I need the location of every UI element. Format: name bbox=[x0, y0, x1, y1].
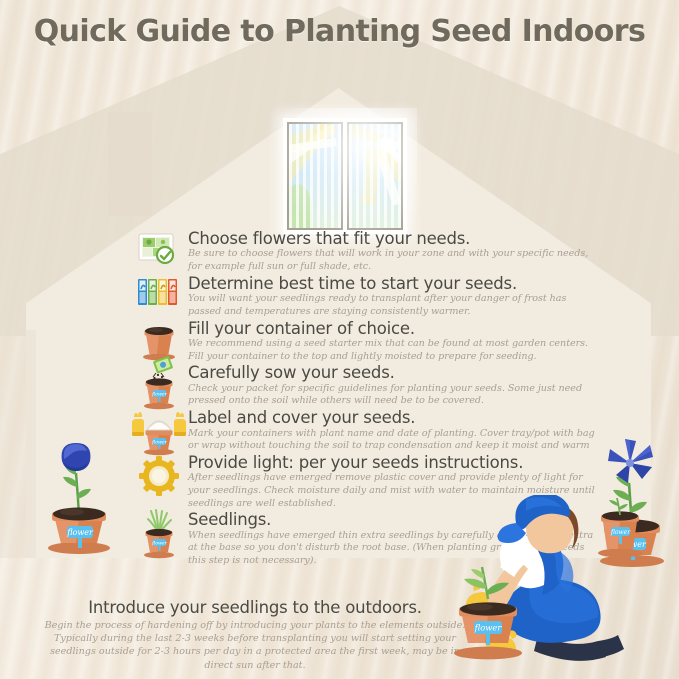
window-foliage bbox=[287, 184, 312, 230]
step-text: Determine best time to start your seeds.… bbox=[188, 275, 596, 319]
pot-tag-label: flower bbox=[474, 622, 503, 632]
sun-light-ring-icon bbox=[136, 456, 182, 502]
step-description: You will want your seedlings ready to tr… bbox=[188, 293, 596, 318]
step-heading: Carefully sow your seeds. bbox=[188, 364, 596, 382]
step-text: Carefully sow your seeds. Check your pac… bbox=[188, 364, 596, 408]
wall-shadow-left bbox=[0, 330, 36, 558]
step-heading: Provide light: per your seeds instructio… bbox=[188, 454, 596, 472]
step-text: Label and cover your seeds. Mark your co… bbox=[188, 409, 596, 453]
step-heading: Fill your container of choice. bbox=[188, 320, 596, 338]
step-description: We recommend using a seed starter mix th… bbox=[188, 338, 596, 363]
svg-text:flower: flower bbox=[151, 440, 167, 446]
step-heading: Choose flowers that fit your needs. bbox=[188, 230, 596, 248]
step-text: Fill your container of choice. We recomm… bbox=[188, 320, 596, 364]
step-item: Fill your container of choice. We recomm… bbox=[136, 320, 596, 364]
background-pot: flower bbox=[598, 498, 642, 557]
gloves-covered-pot-icon: flower bbox=[128, 407, 190, 459]
page-title: Quick Guide to Planting Seed Indoors bbox=[0, 14, 679, 49]
window-pane-right bbox=[347, 122, 403, 230]
footer-heading: Introduce your seedlings to the outdoors… bbox=[40, 598, 470, 617]
left-decor-pot: flower bbox=[36, 415, 122, 565]
footer-description: Begin the process of hardening off by in… bbox=[40, 619, 470, 672]
step-description: Be sure to choose flowers that will work… bbox=[188, 248, 596, 273]
step-item: flower Label and cove bbox=[136, 409, 596, 453]
glove-left bbox=[132, 412, 144, 436]
bell-flower-icon bbox=[62, 443, 91, 515]
step-heading: Label and cover your seeds. bbox=[188, 409, 596, 427]
window-pane-left bbox=[287, 122, 343, 230]
infographic-canvas: Quick Guide to Planting Seed Indoors bbox=[0, 0, 679, 679]
chimney-shape bbox=[108, 112, 152, 216]
window-illustration bbox=[283, 118, 407, 234]
seed-packets-icon bbox=[136, 277, 182, 323]
svg-text:flower: flower bbox=[610, 529, 631, 536]
step-heading: Determine best time to start your seeds. bbox=[188, 275, 596, 293]
seed-catalog-icon bbox=[136, 230, 182, 276]
step-description: Mark your containers with plant name and… bbox=[188, 428, 596, 453]
sun-ray bbox=[347, 122, 382, 144]
svg-text:flower: flower bbox=[151, 392, 167, 398]
pot-tag-label: flower bbox=[66, 528, 94, 537]
step-item: flower Carefully sow your seeds. Check y… bbox=[136, 364, 596, 408]
sowing-seeds-icon: flower bbox=[136, 354, 182, 412]
step-text: Choose flowers that fit your needs. Be s… bbox=[188, 230, 596, 274]
step-item: Choose flowers that fit your needs. Be s… bbox=[136, 230, 596, 274]
glove-right bbox=[174, 412, 186, 436]
step-item: Determine best time to start your seeds.… bbox=[136, 275, 596, 319]
window-frame bbox=[287, 122, 403, 230]
gardener-illustration: flower bbox=[430, 495, 679, 679]
footer-block: Introduce your seedlings to the outdoors… bbox=[40, 598, 470, 672]
step-description: Check your packet for specific guideline… bbox=[188, 383, 596, 408]
sun-ray bbox=[361, 147, 381, 206]
seedlings-pot-icon: flower bbox=[136, 505, 182, 561]
svg-text:flower: flower bbox=[151, 541, 167, 547]
